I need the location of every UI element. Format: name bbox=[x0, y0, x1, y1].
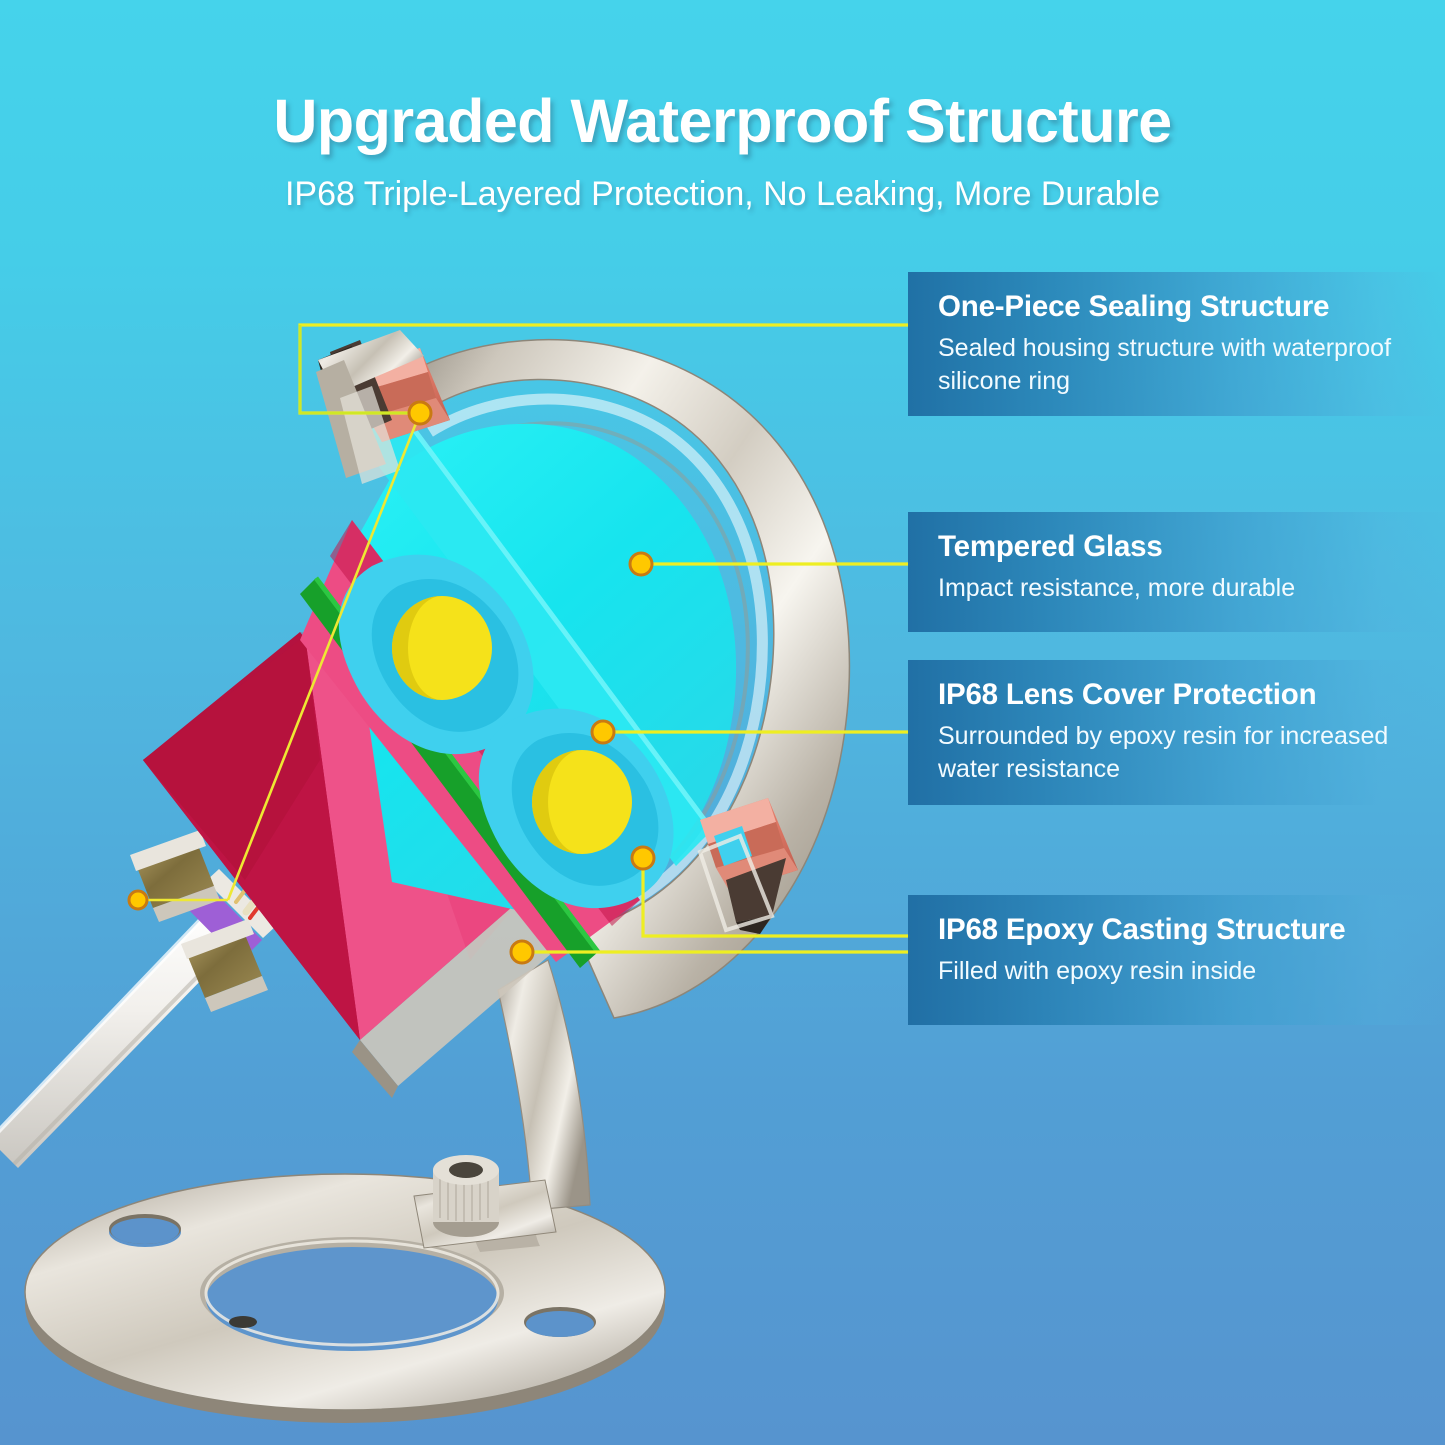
leader-dot-lens-cover bbox=[592, 721, 614, 743]
leader-dot-epoxy-lower bbox=[511, 941, 533, 963]
leader-dot-cable-gland bbox=[129, 891, 147, 909]
callout-title: One-Piece Sealing Structure bbox=[938, 290, 1445, 324]
callout-epoxy-casting[interactable]: IP68 Epoxy Casting Structure Filled with… bbox=[908, 895, 1445, 1025]
callout-description: Sealed housing structure with waterproof… bbox=[938, 332, 1408, 399]
leader-dot-epoxy-upper bbox=[632, 847, 654, 869]
callout-description: Impact resistance, more durable bbox=[938, 572, 1408, 605]
infographic-canvas: Upgraded Waterproof Structure IP68 Tripl… bbox=[0, 0, 1445, 1445]
callout-tempered-glass[interactable]: Tempered Glass Impact resistance, more d… bbox=[908, 512, 1445, 632]
leader-dot-one-piece-sealing bbox=[409, 402, 431, 424]
callout-lens-cover-protection[interactable]: IP68 Lens Cover Protection Surrounded by… bbox=[908, 660, 1445, 805]
callout-one-piece-sealing[interactable]: One-Piece Sealing Structure Sealed housi… bbox=[908, 272, 1445, 416]
mounting-base-plate bbox=[25, 1174, 665, 1423]
callout-title: IP68 Lens Cover Protection bbox=[938, 678, 1445, 712]
callout-title: Tempered Glass bbox=[938, 530, 1445, 564]
power-cable bbox=[0, 869, 276, 1168]
callout-description: Surrounded by epoxy resin for increased … bbox=[938, 720, 1408, 787]
adjustment-knob bbox=[433, 1155, 499, 1237]
callout-title: IP68 Epoxy Casting Structure bbox=[938, 913, 1445, 947]
callout-description: Filled with epoxy resin inside bbox=[938, 955, 1408, 988]
leader-dot-tempered-glass bbox=[630, 553, 652, 575]
